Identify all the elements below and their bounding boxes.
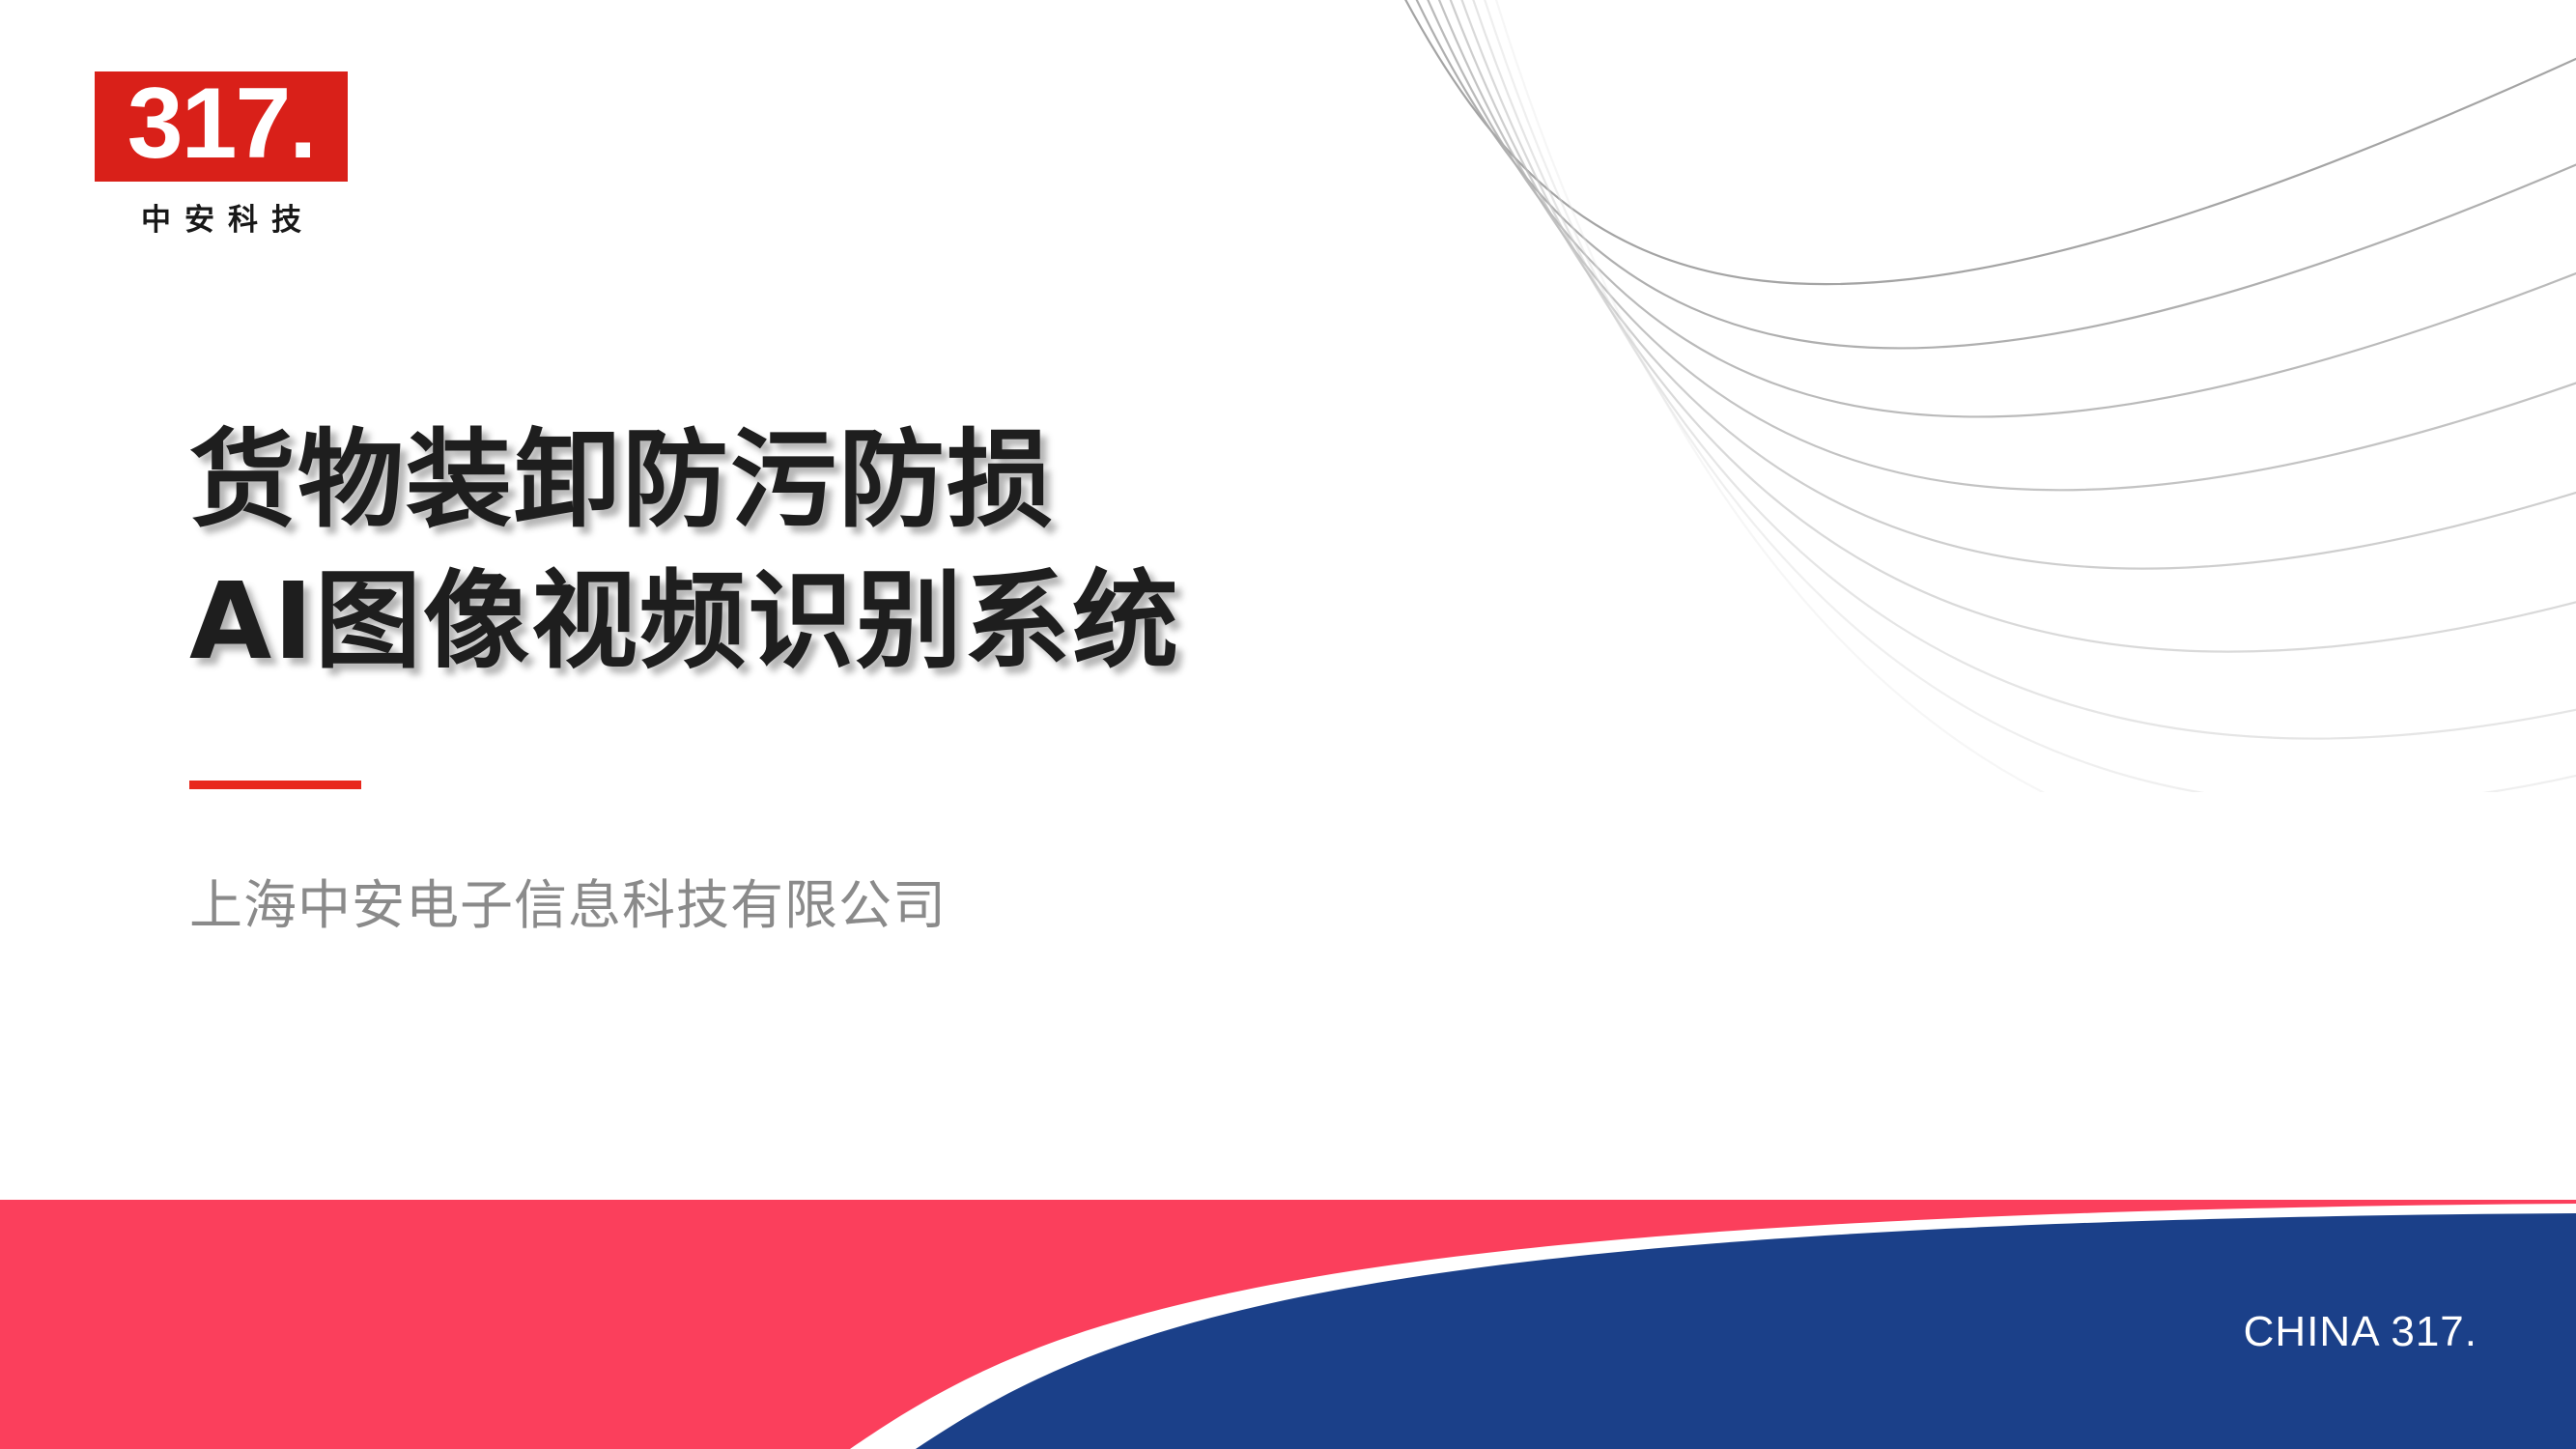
- footer-banner: CHINA 317.: [0, 1200, 2576, 1449]
- logo-red-box: 317.: [95, 71, 348, 182]
- company-logo: 317. 中安科技: [95, 71, 348, 239]
- footer-brand-text: CHINA 317.: [2244, 1308, 2477, 1356]
- page-title-line-2: AI图像视频识别系统: [189, 551, 1348, 692]
- logo-chinese-name: 中安科技: [95, 195, 348, 239]
- swoosh-decoration: [1256, 0, 2576, 792]
- title-divider: [189, 781, 361, 789]
- company-subtitle: 上海中安电子信息科技有限公司: [189, 872, 947, 938]
- logo-number-text: 317.: [127, 73, 315, 174]
- footer-shapes: [0, 1200, 2576, 1449]
- page-title-line-1: 货物装卸防污防损: [189, 410, 1348, 551]
- slide-root: 317. 中安科技 货物装卸防污防损 AI图像视频识别系统 上海中安电子信息科技…: [0, 0, 2576, 1449]
- page-title: 货物装卸防污防损 AI图像视频识别系统: [189, 410, 1348, 692]
